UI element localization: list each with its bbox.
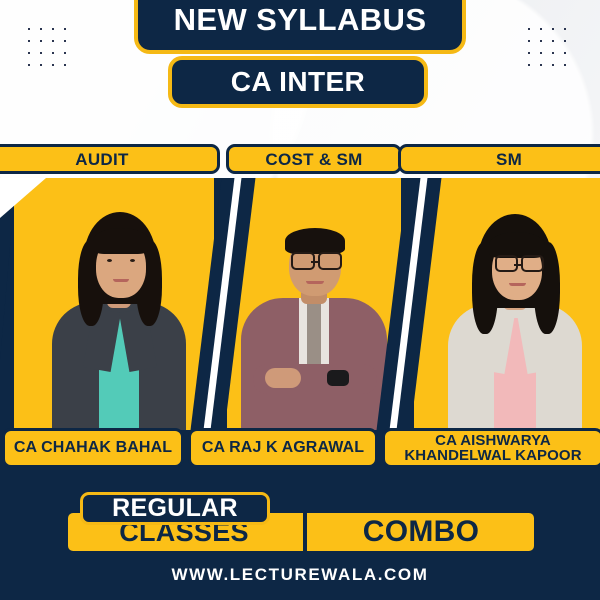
- faculty-photo-panel-1: [14, 178, 214, 430]
- faculty-portrait-aishwarya-khandelwal-kapoor: [440, 192, 590, 430]
- faculty-portrait-chahak-bahal: [44, 194, 194, 430]
- offer-bar-divider: [303, 513, 307, 551]
- faculty-photo-panel-3: [414, 178, 600, 430]
- subject-tab-audit[interactable]: AUDIT: [0, 144, 220, 174]
- subject-tab-row: AUDIT COST & SM SM: [0, 144, 600, 178]
- combo-label: COMBO: [363, 515, 480, 549]
- faculty-name-3: CA AISHWARYA KHANDELWAL KAPOOR: [385, 433, 600, 464]
- subject-tab-sm[interactable]: SM: [398, 144, 600, 174]
- headline-group: NEW SYLLABUS CA INTER: [0, 0, 600, 125]
- faculty-name-1: CA CHAHAK BAHAL: [10, 440, 176, 456]
- badge-new-syllabus: NEW SYLLABUS: [134, 0, 466, 54]
- subject-tab-cost-sm-label: COST & SM: [265, 151, 362, 168]
- faculty-photo-band: [0, 178, 600, 430]
- panel-divider-1: [206, 178, 240, 430]
- new-syllabus-text: NEW SYLLABUS: [174, 4, 427, 35]
- faculty-portrait-raj-k-agrawal: [231, 188, 397, 430]
- website-url: WWW.LECTUREWALA.COM: [171, 565, 428, 585]
- faculty-nameplate-2: CA RAJ K AGRAWAL: [188, 428, 378, 468]
- faculty-nameplate-3: CA AISHWARYA KHANDELWAL KAPOOR: [382, 428, 600, 468]
- website-footer[interactable]: WWW.LECTUREWALA.COM: [0, 562, 600, 588]
- panel-divider-2: [392, 178, 426, 430]
- faculty-photo-panel-2: [227, 178, 401, 430]
- regular-label: REGULAR: [112, 494, 238, 523]
- subject-tab-cost-sm[interactable]: COST & SM: [226, 144, 402, 174]
- promo-poster: NEW SYLLABUS CA INTER AUDIT COST & SM SM: [0, 0, 600, 600]
- faculty-nameplate-1: CA CHAHAK BAHAL: [2, 428, 184, 468]
- combo-label-wrap[interactable]: COMBO: [308, 513, 534, 551]
- subject-tab-audit-label: AUDIT: [75, 151, 128, 168]
- badge-ca-inter: CA INTER: [168, 56, 428, 108]
- ca-inter-text: CA INTER: [231, 68, 365, 96]
- subject-tab-sm-label: SM: [496, 151, 522, 168]
- regular-badge: REGULAR: [80, 492, 270, 525]
- faculty-name-2: CA RAJ K AGRAWAL: [198, 440, 368, 456]
